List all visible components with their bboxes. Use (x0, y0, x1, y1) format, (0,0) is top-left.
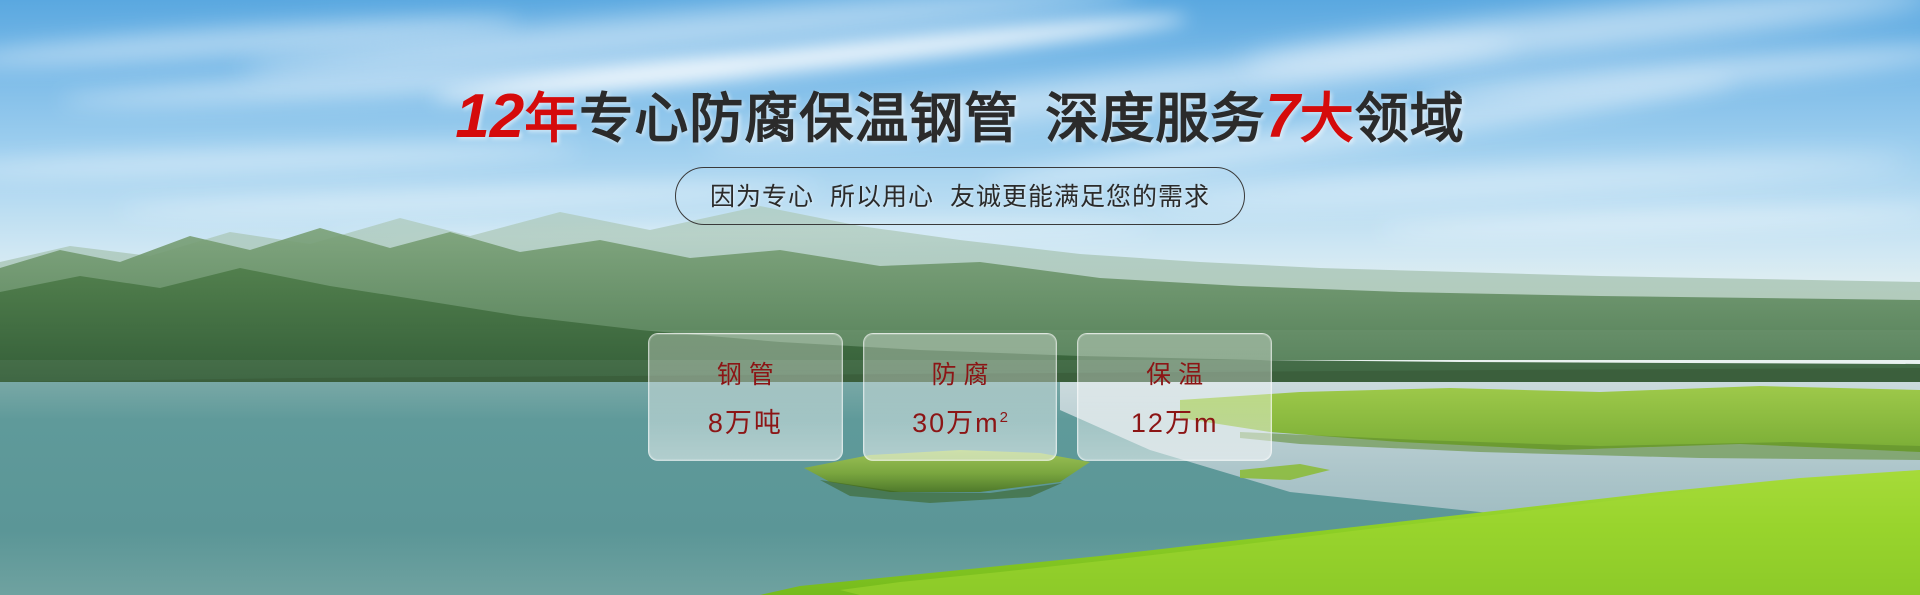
subtitle-container: 因为专心所以用心友诚更能满足您的需求 (0, 167, 1920, 225)
headline-years-unit: 年 (524, 89, 579, 149)
stat-card-value-superscript: 2 (1000, 409, 1008, 426)
stat-card-anticorrosion: 防腐 30万m2 (863, 333, 1058, 461)
subtitle-part-2: 所以用心 (830, 183, 934, 211)
stat-card-title: 保温 (1139, 355, 1210, 391)
stat-card-title: 钢管 (710, 355, 781, 391)
stat-card-value: 8万吨 (708, 401, 783, 440)
stat-card-value: 12万m (1131, 401, 1219, 440)
stat-card-value: 30万m2 (912, 401, 1008, 440)
promo-banner: 12年专心防腐保温钢管深度服务7大领域 因为专心所以用心友诚更能满足您的需求 钢… (0, 0, 1920, 595)
subtitle-part-3: 友诚更能满足您的需求 (950, 183, 1210, 211)
stat-card-value-text: 12万m (1131, 408, 1219, 438)
headline-fields-unit: 大 (1300, 89, 1355, 149)
subtitle-pill: 因为专心所以用心友诚更能满足您的需求 (675, 167, 1245, 225)
headline-main-text: 专心防腐保温钢管 (579, 89, 1019, 149)
stat-card-insulation: 保温 12万m (1077, 333, 1272, 461)
stat-card-value-text: 30万m (912, 408, 1000, 438)
stat-card-title: 防腐 (925, 355, 996, 391)
subtitle-part-1: 因为专心 (710, 183, 814, 211)
headline-fields-tail: 领域 (1355, 89, 1465, 149)
headline-service-text: 深度服务 (1045, 89, 1265, 149)
headline-fields-number: 7 (1265, 82, 1299, 151)
stats-row: 钢管 8万吨 防腐 30万m2 保温 12万m (648, 333, 1272, 461)
stat-card-steel-pipe: 钢管 8万吨 (648, 333, 843, 461)
headline-years-number: 12 (455, 82, 524, 151)
page-title: 12年专心防腐保温钢管深度服务7大领域 (0, 88, 1920, 148)
stat-card-value-text: 8万吨 (708, 408, 783, 438)
